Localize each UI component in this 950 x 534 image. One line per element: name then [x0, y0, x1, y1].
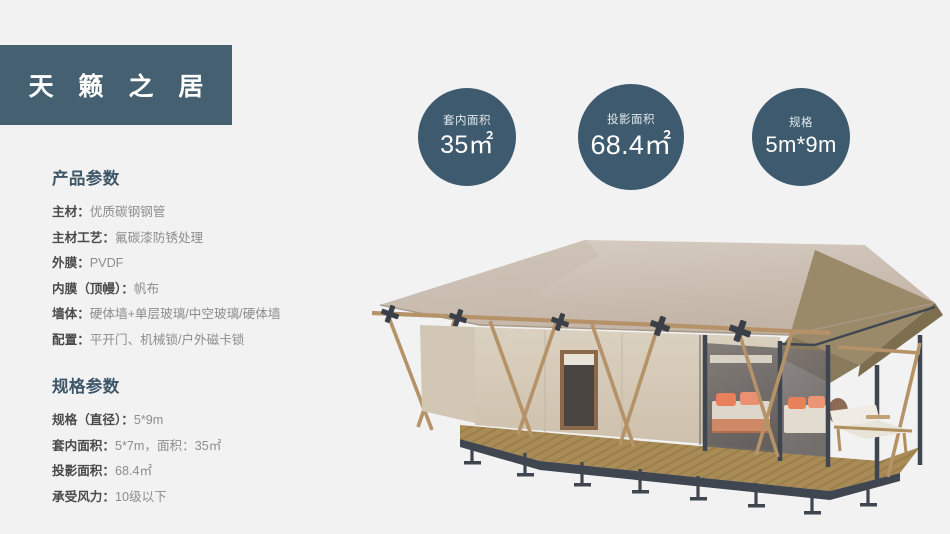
param-label: 主材工艺： — [52, 231, 115, 245]
param-row: 内膜（顶幔）：帆布 — [52, 277, 382, 303]
interior-bed-second — [784, 396, 828, 433]
title-banner: 天 籁 之 居 — [0, 45, 232, 125]
pillow — [716, 393, 736, 406]
param-label: 投影面积： — [52, 464, 115, 478]
param-value: 5*7m，面积：35㎡ — [115, 439, 221, 453]
lounger-leg — [838, 429, 840, 451]
product-parameters-heading: 产品参数 — [52, 165, 382, 189]
product-parameters-section: 产品参数 主材：优质碳钢钢管 主材工艺：氟碳漆防锈处理 外膜：PVDF 内膜（顶… — [52, 165, 382, 353]
param-row: 主材：优质碳钢钢管 — [52, 200, 382, 226]
pillow — [788, 397, 806, 409]
param-label: 墙体： — [52, 307, 90, 321]
param-value: 优质碳钢钢管 — [90, 205, 166, 219]
stat-badge-projected-area: 投影面积 68.4㎡ — [578, 84, 684, 190]
stat-badge-indoor-area: 套内面积 35㎡ — [418, 88, 516, 186]
param-row: 规格（直径）：5*9m — [52, 408, 382, 434]
param-value: PVDF — [90, 256, 124, 270]
pillow — [808, 396, 825, 408]
param-label: 配置： — [52, 333, 90, 347]
param-value: 68.4㎡ — [115, 464, 152, 478]
page-title: 天 籁 之 居 — [20, 67, 213, 103]
param-label: 套内面积： — [52, 439, 115, 453]
param-value: 5*9m — [134, 413, 163, 427]
stat-badge-value: 35㎡ — [440, 133, 494, 158]
bed-mattress — [784, 405, 828, 433]
lounger-armrest — [866, 415, 890, 419]
product-spec-page: 天 籁 之 居 产品参数 主材：优质碳钢钢管 主材工艺：氟碳漆防锈处理 外膜：P… — [0, 0, 950, 534]
parameter-column: 产品参数 主材：优质碳钢钢管 主材工艺：氟碳漆防锈处理 外膜：PVDF 内膜（顶… — [52, 165, 382, 524]
param-label: 承受风力： — [52, 490, 115, 504]
lounge-chair — [830, 405, 912, 453]
stat-badge-dimensions: 规格 5m*9m — [752, 88, 850, 186]
spec-parameters-section: 规格参数 规格（直径）：5*9m 套内面积：5*7m，面积：35㎡ 投影面积：6… — [52, 373, 382, 510]
param-row: 套内面积：5*7m，面积：35㎡ — [52, 434, 382, 460]
param-row: 投影面积：68.4㎡ — [52, 459, 382, 485]
param-label: 规格（直径）： — [52, 413, 134, 427]
param-value: 氟碳漆防锈处理 — [115, 231, 203, 245]
param-label: 主材： — [52, 205, 90, 219]
param-value: 平开门、机械锁/户外磁卡锁 — [90, 333, 245, 347]
param-value: 10级以下 — [115, 490, 167, 504]
stat-badge-value: 68.4㎡ — [590, 132, 671, 159]
door-header-light — [710, 355, 772, 363]
window-top-light — [564, 354, 594, 365]
param-label: 内膜（顶幔）： — [52, 282, 134, 296]
lounger-leg — [904, 433, 906, 453]
stat-badge-label: 规格 — [789, 118, 813, 130]
param-row: 主材工艺：氟碳漆防锈处理 — [52, 226, 382, 252]
tent-render-illustration — [360, 215, 950, 525]
param-value: 帆布 — [134, 282, 159, 296]
spec-parameters-heading: 规格参数 — [52, 373, 382, 397]
param-row: 承受风力：10级以下 — [52, 485, 382, 511]
stat-badge-value: 5m*9m — [765, 134, 836, 156]
wall-left-flap — [420, 325, 475, 423]
stat-badge-label: 投影面积 — [607, 115, 655, 127]
param-value: 硬体墙+单层玻璃/中空玻璃/硬体墙 — [90, 307, 281, 321]
stat-badge-label: 套内面积 — [443, 116, 491, 128]
param-row: 墙体：硬体墙+单层玻璃/中空玻璃/硬体墙 — [52, 302, 382, 328]
param-label: 外膜： — [52, 256, 90, 270]
param-row: 配置：平开门、机械锁/户外磁卡锁 — [52, 328, 382, 354]
param-row: 外膜：PVDF — [52, 251, 382, 277]
